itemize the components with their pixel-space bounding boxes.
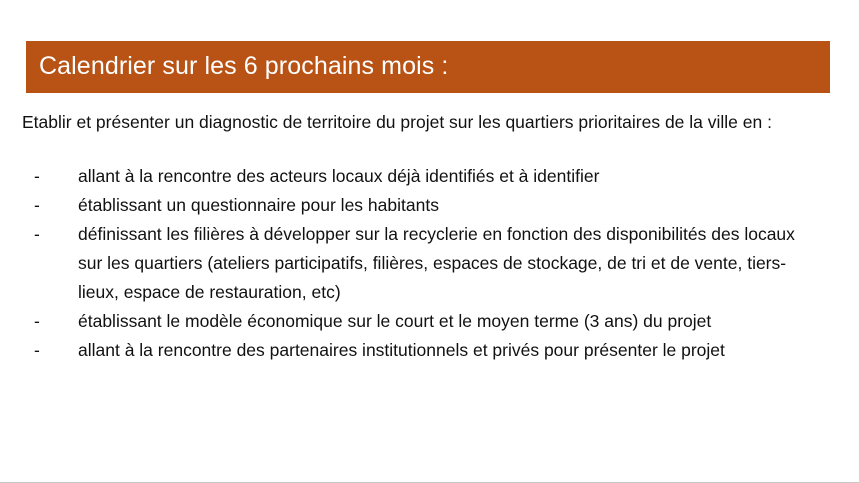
list-item: - définissant les filières à développer … [34,220,804,307]
list-item-label: établissant le modèle économique sur le … [78,311,711,331]
title-banner: Calendrier sur les 6 prochains mois : [26,41,830,93]
list-item: - allant à la rencontre des partenaires … [34,336,804,365]
intro-paragraph: Etablir et présenter un diagnostic de te… [22,108,812,137]
list-item: - établissant un questionnaire pour les … [34,191,804,220]
list-item-label: établissant un questionnaire pour les ha… [78,195,439,215]
dash-bullet-icon: - [34,307,64,336]
page-title: Calendrier sur les 6 prochains mois : [39,53,448,81]
slide-canvas: Calendrier sur les 6 prochains mois : Et… [0,0,859,483]
dash-bullet-icon: - [34,191,64,220]
list-item-label: allant à la rencontre des partenaires in… [78,340,725,360]
list-item-label: allant à la rencontre des acteurs locaux… [78,166,599,186]
list-item: - établissant le modèle économique sur l… [34,307,804,336]
list-item: - allant à la rencontre des acteurs loca… [34,162,804,191]
slide-body: Etablir et présenter un diagnostic de te… [22,108,822,365]
bullet-list: - allant à la rencontre des acteurs loca… [34,162,822,365]
dash-bullet-icon: - [34,336,64,365]
dash-bullet-icon: - [34,162,64,191]
dash-bullet-icon: - [34,220,64,249]
list-item-label: définissant les filières à développer su… [78,224,795,302]
